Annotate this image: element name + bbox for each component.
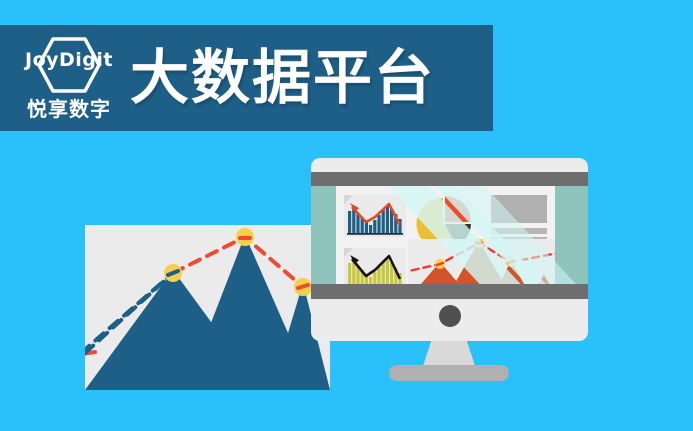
power-button[interactable] <box>439 305 461 327</box>
text-block-line <box>491 228 547 234</box>
header-banner: JoyDigit 悦享数字 大数据平台 <box>0 25 493 131</box>
monitor-device <box>311 158 588 341</box>
left-mountain-chart <box>85 225 330 390</box>
monitor-stand-base <box>389 365 509 381</box>
monitor-top-bezel <box>311 172 588 186</box>
logo-subtitle: 悦享数字 <box>14 93 124 122</box>
brand-logo: JoyDigit 悦享数字 <box>14 33 124 125</box>
axis-line <box>347 233 403 235</box>
poster-canvas: JoyDigit 悦享数字 大数据平台 <box>0 0 693 431</box>
text-block-image <box>491 195 547 223</box>
widget-text-block[interactable] <box>491 195 547 245</box>
screen-band-left <box>311 186 336 299</box>
monitor-screen <box>311 186 588 299</box>
left-mountain-card <box>85 225 330 390</box>
monitor-bottom-bezel <box>311 284 588 299</box>
bar-chart-blue-svg <box>344 195 406 237</box>
page-title: 大数据平台 <box>130 47 435 109</box>
pie-slice-b <box>445 196 471 222</box>
widget-bar-chart-blue[interactable] <box>344 195 406 237</box>
dashboard-content <box>336 186 555 299</box>
logo-wordmark: JoyDigit <box>14 49 124 71</box>
screen-band-right <box>555 186 588 299</box>
